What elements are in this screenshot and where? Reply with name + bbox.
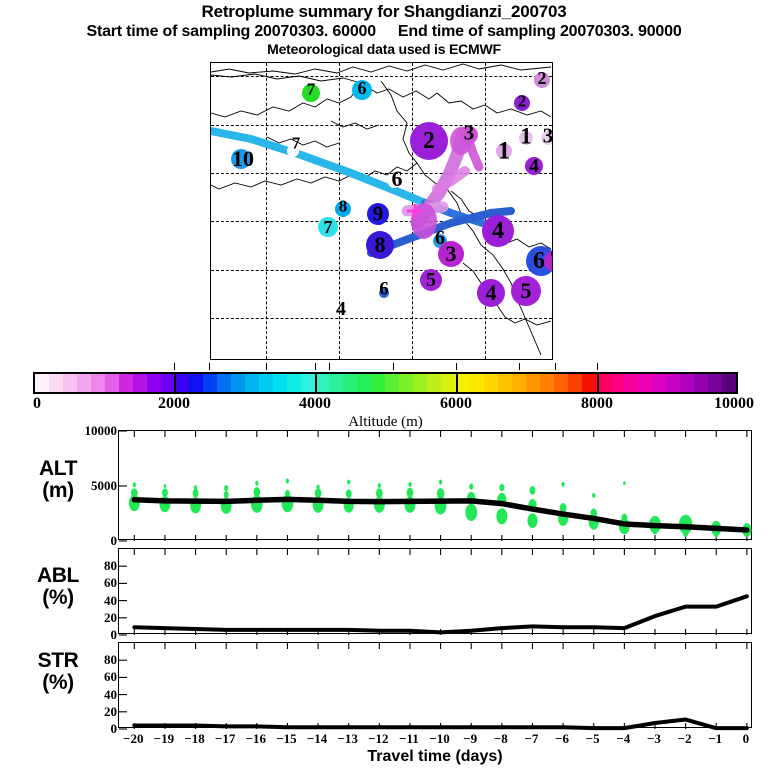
colorbar-band-1 (49, 374, 63, 392)
colorbar-band-28 (427, 374, 441, 392)
panel-str-ytick-label: 40 (61, 687, 117, 703)
xtick-label--3: −3 (647, 731, 661, 747)
colorbar-separator-8000 (597, 372, 599, 394)
colorbar-band-38 (568, 374, 582, 392)
panel-str-ytick-label: 20 (61, 704, 117, 720)
panel-alt-ytick-label: 0 (61, 533, 117, 549)
panel-str-ytick-label: 60 (61, 669, 117, 685)
panel-abl-mean-line (134, 596, 747, 632)
colorbar-band-47 (694, 374, 708, 392)
panel-abl-ytick-label: 60 (61, 575, 117, 591)
colorbar-tick-label-6000: 6000 (440, 395, 472, 413)
xtick-label--6: −6 (555, 731, 569, 747)
panel-abl-ytick-label: 20 (61, 610, 117, 626)
colorbar-tick-2000 (174, 363, 175, 370)
panel-abl-ytick-label: 0 (61, 627, 117, 643)
colorbar-band-0 (35, 374, 49, 392)
alt-scatter-point (255, 481, 258, 486)
sampling-time-line: Start time of sampling 20070303. 60000En… (0, 22, 768, 41)
panel-str-ytick-label: 80 (61, 652, 117, 668)
met-data-label: Meteorological data used is ECMWF (0, 41, 768, 58)
alt-scatter-point (469, 483, 473, 489)
colorbar-band-46 (680, 374, 694, 392)
colorbar-title: Altitude (m) (33, 414, 738, 431)
colorbar-band-6 (119, 374, 133, 392)
colorbar-band-10 (175, 374, 189, 392)
alt-scatter-point (131, 488, 138, 498)
colorbar-separator-6000 (456, 372, 458, 394)
abl-panel: 020406080 (118, 548, 752, 634)
xtick-label--19: −19 (154, 731, 174, 747)
plume-marker-label: 8 (339, 198, 348, 215)
xtick-label--5: −5 (586, 731, 600, 747)
retroplume-map: 7622107231134689786345674564 (210, 62, 553, 360)
plume-marker-label: 5 (426, 270, 436, 290)
panel-str-ytick-label: 0 (61, 721, 117, 737)
colorbar-band-35 (526, 374, 540, 392)
panel-abl-plot (119, 549, 753, 635)
alt-scatter-point (408, 482, 411, 487)
alt-scatter-point (530, 486, 536, 495)
colorbar-band-41 (610, 374, 624, 392)
colorbar-band-31 (469, 374, 483, 392)
alt-scatter-point (253, 487, 260, 497)
colorbar-minor-tick-6 (555, 363, 556, 370)
plume-marker-label: 1 (520, 125, 532, 148)
colorbar-band-39 (582, 374, 596, 392)
colorbar-band-7 (133, 374, 147, 392)
panel-alt-plot (119, 431, 753, 541)
xtick-label--7: −7 (525, 731, 539, 747)
alt-scatter-point (437, 488, 445, 499)
alt-scatter-point (683, 530, 688, 537)
colorbar-band-21 (329, 374, 343, 392)
plume-marker-label: 5 (521, 280, 532, 302)
alt-scatter-point (499, 484, 504, 491)
colorbar-minor-tick-3 (393, 363, 394, 370)
alt-scatter-point (623, 481, 626, 485)
plume-marker-label: 6 (379, 280, 389, 299)
alt-scatter-point (347, 480, 350, 485)
alt-scatter-point (496, 508, 507, 524)
xaxis-title: Travel time (days) (118, 748, 752, 766)
plume-marker-label: 4 (492, 219, 504, 243)
colorbar-minor-tick-2 (329, 363, 330, 370)
colorbar-band-26 (399, 374, 413, 392)
plume-marker-label: 6 (358, 79, 367, 97)
xtick-label--4: −4 (616, 731, 630, 747)
panel-str-plot (119, 643, 753, 729)
colorbar-gradient (33, 372, 738, 394)
plume-marker-label: 3 (446, 243, 457, 265)
colorbar-tick-8000 (597, 363, 598, 370)
colorbar-band-16 (259, 374, 273, 392)
plume-marker-label: 6 (392, 168, 403, 190)
alt-scatter-point (224, 491, 229, 498)
alt-scatter-point (224, 485, 228, 491)
alt-scatter-point (439, 480, 442, 485)
colorbar-band-20 (315, 374, 329, 392)
xtick-label--1: −1 (708, 731, 722, 747)
colorbar-band-42 (624, 374, 638, 392)
plume-marker-label: 3 (464, 123, 475, 144)
alt-scatter-point (315, 488, 322, 498)
altitude-colorbar: 0200040006000800010000 Altitude (m) (33, 372, 738, 394)
colorbar-band-48 (708, 374, 722, 392)
colorbar-band-19 (301, 374, 315, 392)
colorbar-band-49 (722, 374, 736, 392)
plume-marker-label: 7 (324, 218, 333, 236)
colorbar-tick-label-4000: 4000 (299, 395, 331, 413)
end-time-label: End time of sampling 20070303. 90000 (398, 23, 682, 40)
colorbar-separator-4000 (315, 372, 317, 394)
xtick-label--9: −9 (463, 731, 477, 747)
alt-scatter-point (133, 482, 136, 487)
colorbar-band-14 (231, 374, 245, 392)
colorbar-band-4 (91, 374, 105, 392)
xtick-label--2: −2 (678, 731, 692, 747)
colorbar-band-23 (357, 374, 371, 392)
plume-marker-label: 2 (423, 129, 435, 153)
colorbar-minor-tick-4 (456, 363, 457, 370)
xtick-label--15: −15 (276, 731, 296, 747)
alt-scatter-point (407, 488, 414, 498)
title-block: Retroplume summary for Shangdianzi_20070… (0, 2, 768, 58)
colorbar-tick-label-2000: 2000 (158, 395, 190, 413)
page-title: Retroplume summary for Shangdianzi_20070… (0, 2, 768, 22)
colorbar-band-12 (203, 374, 217, 392)
str-panel: 020406080 (118, 642, 752, 728)
alt-scatter-point (164, 484, 167, 488)
xtick-label--16: −16 (246, 731, 266, 747)
colorbar-tick-label-8000: 8000 (581, 395, 613, 413)
alt-scatter-point (316, 485, 319, 490)
alt-scatter-point (378, 483, 381, 488)
xtick-label--13: −13 (337, 731, 357, 747)
alt-panel: 0500010000 (118, 430, 752, 540)
colorbar-band-3 (77, 374, 91, 392)
plume-marker-label: 7 (307, 81, 316, 98)
xtick-label--12: −12 (368, 731, 388, 747)
alt-scatter-point (194, 485, 197, 490)
colorbar-minor-tick-5 (519, 363, 520, 370)
alt-scatter-point (561, 482, 564, 487)
alt-scatter-point (714, 531, 718, 537)
plume-marker-label: 7 (550, 249, 553, 269)
colorbar-tick-label-0: 0 (33, 395, 41, 413)
colorbar-band-34 (512, 374, 526, 392)
panel-alt-ytick-label: 5000 (61, 478, 117, 494)
alt-scatter-point (162, 488, 168, 497)
colorbar-band-25 (385, 374, 399, 392)
colorbar-minor-tick-1 (266, 363, 267, 370)
colorbar-band-36 (540, 374, 554, 392)
colorbar-band-15 (245, 374, 259, 392)
colorbar-band-44 (652, 374, 666, 392)
colorbar-band-22 (343, 374, 357, 392)
colorbar-tick-4000 (315, 363, 316, 370)
colorbar-band-8 (147, 374, 161, 392)
plume-marker-label: 4 (486, 282, 497, 304)
colorbar-band-5 (105, 374, 119, 392)
colorbar-band-45 (666, 374, 680, 392)
xtick-label--10: −10 (429, 731, 449, 747)
plume-marker-label: 2 (538, 69, 547, 87)
colorbar-band-13 (217, 374, 231, 392)
alt-scatter-point (465, 504, 477, 521)
colorbar-band-43 (638, 374, 652, 392)
plume-marker-label: 1 (498, 139, 511, 164)
plume-marker-label: 10 (232, 148, 254, 170)
plume-marker-label: 8 (375, 234, 386, 256)
plume-marker-label: 7 (292, 135, 301, 152)
colorbar-band-29 (441, 374, 455, 392)
colorbar-band-11 (189, 374, 203, 392)
colorbar-band-18 (287, 374, 301, 392)
plume-marker-label: 2 (518, 93, 527, 110)
xtick-label--14: −14 (307, 731, 327, 747)
alt-scatter-point (592, 493, 595, 498)
colorbar-band-32 (484, 374, 498, 392)
alt-scatter-point (286, 479, 289, 484)
xtick-label-0: 0 (743, 731, 750, 747)
alt-scatter-point (285, 490, 290, 497)
colorbar-minor-tick-0 (209, 363, 210, 370)
alt-scatter-point (527, 513, 537, 528)
plume-marker-label: 4 (529, 156, 539, 176)
panel-abl-ytick-label: 80 (61, 558, 117, 574)
colorbar-band-2 (63, 374, 77, 392)
colorbar-tick-label-10000: 10000 (714, 395, 754, 413)
xtick-label--17: −17 (215, 731, 235, 747)
plume-marker-label: 9 (373, 204, 384, 225)
colorbar-band-33 (498, 374, 512, 392)
panel-alt-ytick-label: 10000 (61, 423, 117, 439)
panel-abl-ytick-label: 40 (61, 593, 117, 609)
xtick-label--18: −18 (184, 731, 204, 747)
colorbar-band-17 (273, 374, 287, 392)
xtick-label--11: −11 (399, 731, 419, 747)
colorbar-separator-2000 (174, 372, 176, 394)
plume-marker-label: 3 (543, 126, 553, 147)
colorbar-band-27 (413, 374, 427, 392)
colorbar-band-24 (371, 374, 385, 392)
colorbar-band-37 (554, 374, 568, 392)
alt-scatter-point (346, 489, 352, 498)
xtick-label--8: −8 (494, 731, 508, 747)
alt-scatter-point (376, 488, 383, 498)
start-time-label: Start time of sampling 20070303. 60000 (86, 23, 375, 40)
xtick-label--20: −20 (123, 731, 143, 747)
plume-marker-label: 4 (336, 299, 346, 319)
